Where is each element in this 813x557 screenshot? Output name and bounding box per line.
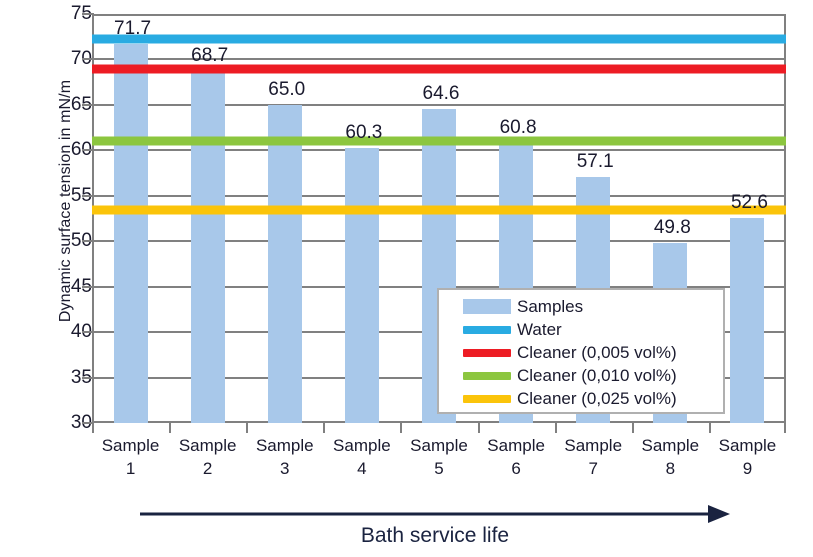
x-axis-caption: Bath service life: [140, 524, 730, 548]
reference-line-water: [92, 35, 786, 44]
legend-line-marker: [463, 372, 511, 380]
legend-label: Samples: [517, 297, 583, 317]
x-axis-label: Sample9: [702, 435, 792, 481]
x-label-word: Sample: [487, 436, 545, 455]
x-label-word: Sample: [642, 436, 700, 455]
x-tick-mark: [709, 423, 711, 433]
legend-swatch-icon: [463, 372, 511, 380]
x-label-word: Sample: [333, 436, 391, 455]
legend-label: Cleaner (0,010 vol%): [517, 366, 677, 386]
legend-item[interactable]: Samples: [439, 295, 723, 318]
x-tick-mark: [169, 423, 171, 433]
x-tick-mark: [478, 423, 480, 433]
legend-box-marker: [463, 299, 511, 314]
x-label-word: Sample: [564, 436, 622, 455]
x-label-index: 2: [203, 459, 212, 478]
legend-item[interactable]: Cleaner (0,010 vol%): [439, 364, 723, 387]
x-tick-mark: [784, 423, 786, 433]
x-label-index: 3: [280, 459, 289, 478]
x-label-index: 1: [126, 459, 135, 478]
bath-service-life-arrow: [140, 505, 730, 523]
bar-value-label: 49.8: [654, 217, 691, 239]
y-axis-ticks: 75706560555045403530: [30, 14, 92, 423]
legend-line-marker: [463, 395, 511, 403]
legend-item[interactable]: Cleaner (0,025 vol%): [439, 387, 723, 410]
bar-value-label: 68.7: [191, 45, 228, 67]
legend-label: Water: [517, 320, 562, 340]
x-label-word: Sample: [719, 436, 777, 455]
arrow-right-icon: [140, 505, 730, 523]
bar-value-label: 64.6: [423, 83, 460, 105]
x-tick-mark: [632, 423, 634, 433]
x-label-word: Sample: [102, 436, 160, 455]
legend-label: Cleaner (0,005 vol%): [517, 343, 677, 363]
bar: [345, 148, 379, 423]
x-tick-mark: [323, 423, 325, 433]
x-label-index: 9: [743, 459, 752, 478]
reference-line-cleaner-0-010-vol: [92, 137, 786, 146]
legend-swatch-icon: [463, 299, 511, 314]
legend-label: Cleaner (0,025 vol%): [517, 389, 677, 409]
x-tick-mark: [400, 423, 402, 433]
bar: [114, 44, 148, 423]
chart-container: Dynamic surface tension in mN/m 75706560…: [0, 0, 813, 557]
x-tick-mark: [92, 423, 94, 433]
x-label-word: Sample: [410, 436, 468, 455]
legend-line-marker: [463, 349, 511, 357]
x-axis: Sample1Sample2Sample3Sample4Sample5Sampl…: [92, 423, 786, 503]
bar-value-label: 60.3: [345, 122, 382, 144]
bar-value-label: 65.0: [268, 79, 305, 101]
legend-swatch-icon: [463, 395, 511, 403]
x-tick-mark: [555, 423, 557, 433]
bar-value-label: 57.1: [577, 151, 614, 173]
x-label-word: Sample: [179, 436, 237, 455]
bar-value-label: 71.7: [114, 18, 151, 40]
bar: [268, 105, 302, 423]
reference-line-cleaner-0-025-vol: [92, 206, 786, 215]
bar: [730, 218, 764, 423]
x-label-index: 4: [357, 459, 366, 478]
bar: [191, 71, 225, 423]
x-label-index: 6: [511, 459, 520, 478]
x-label-index: 8: [666, 459, 675, 478]
legend-swatch-icon: [463, 326, 511, 334]
legend-swatch-icon: [463, 349, 511, 357]
legend-item[interactable]: Water: [439, 318, 723, 341]
legend-line-marker: [463, 326, 511, 334]
x-label-word: Sample: [256, 436, 314, 455]
bar-value-label: 60.8: [500, 117, 537, 139]
bar-value-label: 52.6: [731, 192, 768, 214]
x-tick-mark: [246, 423, 248, 433]
legend-item[interactable]: Cleaner (0,005 vol%): [439, 341, 723, 364]
x-label-index: 7: [588, 459, 597, 478]
chart-legend: SamplesWaterCleaner (0,005 vol%)Cleaner …: [437, 288, 725, 414]
x-label-index: 5: [434, 459, 443, 478]
